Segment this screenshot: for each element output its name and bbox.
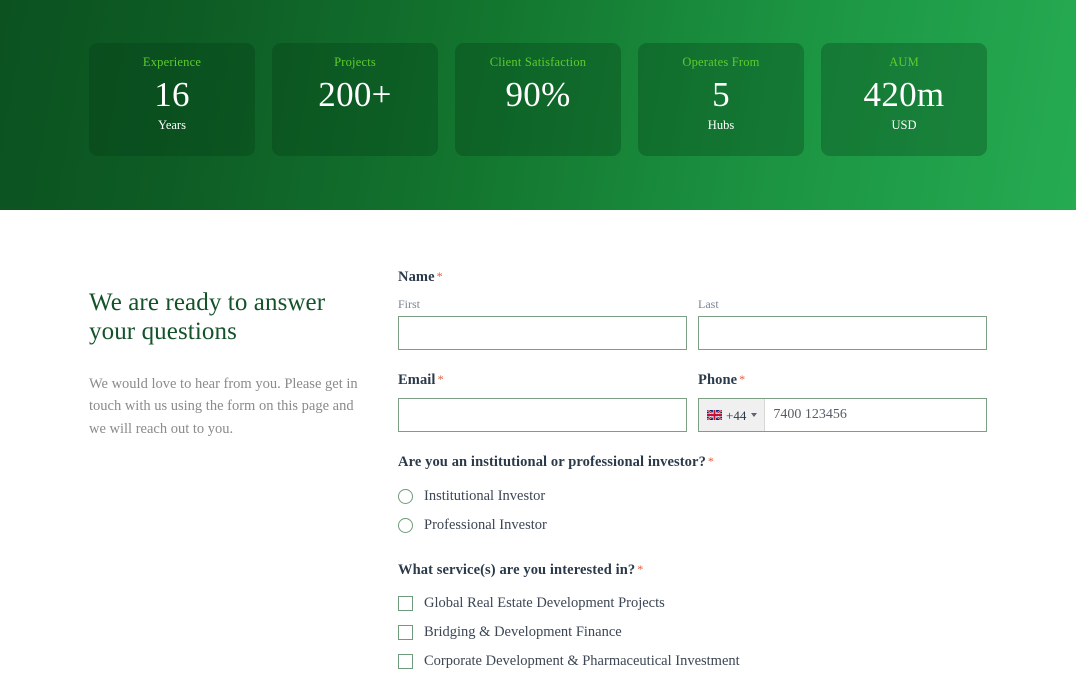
stat-card-projects: Projects 200+ <box>272 43 438 156</box>
radio-icon[interactable] <box>398 489 413 504</box>
email-input[interactable] <box>398 398 687 432</box>
checkbox-option-label: Corporate Development & Pharmaceutical I… <box>424 654 740 669</box>
phone-label-text: Phone <box>698 372 737 388</box>
email-label-text: Email <box>398 372 436 388</box>
required-asterisk: * <box>708 454 714 468</box>
name-label: Name* <box>398 270 987 285</box>
last-name-col: Last <box>698 298 987 350</box>
last-name-input[interactable] <box>698 316 987 350</box>
services-question-text: What service(s) are you interested in? <box>398 562 635 578</box>
investor-question-label: Are you an institutional or professional… <box>398 455 987 470</box>
required-asterisk: * <box>438 372 444 386</box>
phone-field-group: Phone* +44 <box>698 373 987 433</box>
page-title: We are ready to answer your questions <box>89 288 374 347</box>
phone-input[interactable] <box>765 399 986 431</box>
stat-value: 5 <box>712 75 730 114</box>
checkbox-icon[interactable] <box>398 654 413 669</box>
investor-options: Institutional Investor Professional Inve… <box>398 482 987 540</box>
stat-suffix: Years <box>158 119 186 132</box>
stat-card-client-satisfaction: Client Satisfaction 90% <box>455 43 621 156</box>
first-name-col: First <box>398 298 687 350</box>
required-asterisk: * <box>637 562 643 576</box>
phone-label: Phone* <box>698 373 987 388</box>
chevron-down-icon <box>751 413 757 417</box>
content-area: We are ready to answer your questions We… <box>0 210 1076 673</box>
checkbox-option-label: Bridging & Development Finance <box>424 625 622 640</box>
checkbox-option-global-real-estate[interactable]: Global Real Estate Development Projects <box>398 589 987 618</box>
investor-field-group: Are you an institutional or professional… <box>398 455 987 540</box>
first-name-sublabel: First <box>398 298 687 310</box>
uk-flag-icon <box>707 410 722 420</box>
first-name-input[interactable] <box>398 316 687 350</box>
stat-value: 90% <box>505 75 570 114</box>
stat-value: 420m <box>864 75 945 114</box>
email-field-group: Email* <box>398 373 687 433</box>
last-name-sublabel: Last <box>698 298 987 310</box>
stat-suffix: USD <box>891 119 916 132</box>
radio-option-institutional-investor[interactable]: Institutional Investor <box>398 482 987 511</box>
checkbox-icon[interactable] <box>398 596 413 611</box>
stat-value: 200+ <box>318 75 391 114</box>
checkbox-icon[interactable] <box>398 625 413 640</box>
stat-card-aum: AUM 420m USD <box>821 43 987 156</box>
stat-card-experience: Experience 16 Years <box>89 43 255 156</box>
required-asterisk: * <box>437 269 443 283</box>
hero-banner: Experience 16 Years Projects 200+ Client… <box>0 0 1076 210</box>
name-field-group: Name* First Last <box>398 270 987 350</box>
radio-option-professional-investor[interactable]: Professional Investor <box>398 511 987 540</box>
radio-icon[interactable] <box>398 518 413 533</box>
name-label-text: Name <box>398 269 435 285</box>
services-field-group: What service(s) are you interested in?* … <box>398 563 987 673</box>
email-label: Email* <box>398 373 687 388</box>
radio-option-label: Institutional Investor <box>424 489 545 504</box>
stat-label: Projects <box>334 56 376 69</box>
radio-option-label: Professional Investor <box>424 518 547 533</box>
services-question-label: What service(s) are you interested in?* <box>398 563 987 578</box>
email-phone-row: Email* Phone* <box>398 373 987 433</box>
stat-label: Client Satisfaction <box>490 56 587 69</box>
stat-card-operates-from: Operates From 5 Hubs <box>638 43 804 156</box>
checkbox-option-bridging-finance[interactable]: Bridging & Development Finance <box>398 618 987 647</box>
stat-label: AUM <box>889 56 919 69</box>
intro-column: We are ready to answer your questions We… <box>89 288 374 440</box>
contact-form: Name* First Last Email* <box>398 270 987 673</box>
checkbox-option-label: Global Real Estate Development Projects <box>424 596 665 611</box>
required-asterisk: * <box>739 372 745 386</box>
phone-input-wrapper: +44 <box>698 398 987 432</box>
intro-paragraph: We would love to hear from you. Please g… <box>89 373 374 441</box>
stat-value: 16 <box>154 75 190 114</box>
stat-label: Operates From <box>682 56 759 69</box>
investor-question-text: Are you an institutional or professional… <box>398 454 706 470</box>
country-code-selector[interactable]: +44 <box>699 399 765 431</box>
stat-label: Experience <box>143 56 201 69</box>
dial-code-text: +44 <box>726 409 746 422</box>
services-options: Global Real Estate Development Projects … <box>398 589 987 673</box>
stat-suffix: Hubs <box>708 119 734 132</box>
checkbox-option-corporate-development[interactable]: Corporate Development & Pharmaceutical I… <box>398 647 987 673</box>
stats-row: Experience 16 Years Projects 200+ Client… <box>89 43 987 156</box>
